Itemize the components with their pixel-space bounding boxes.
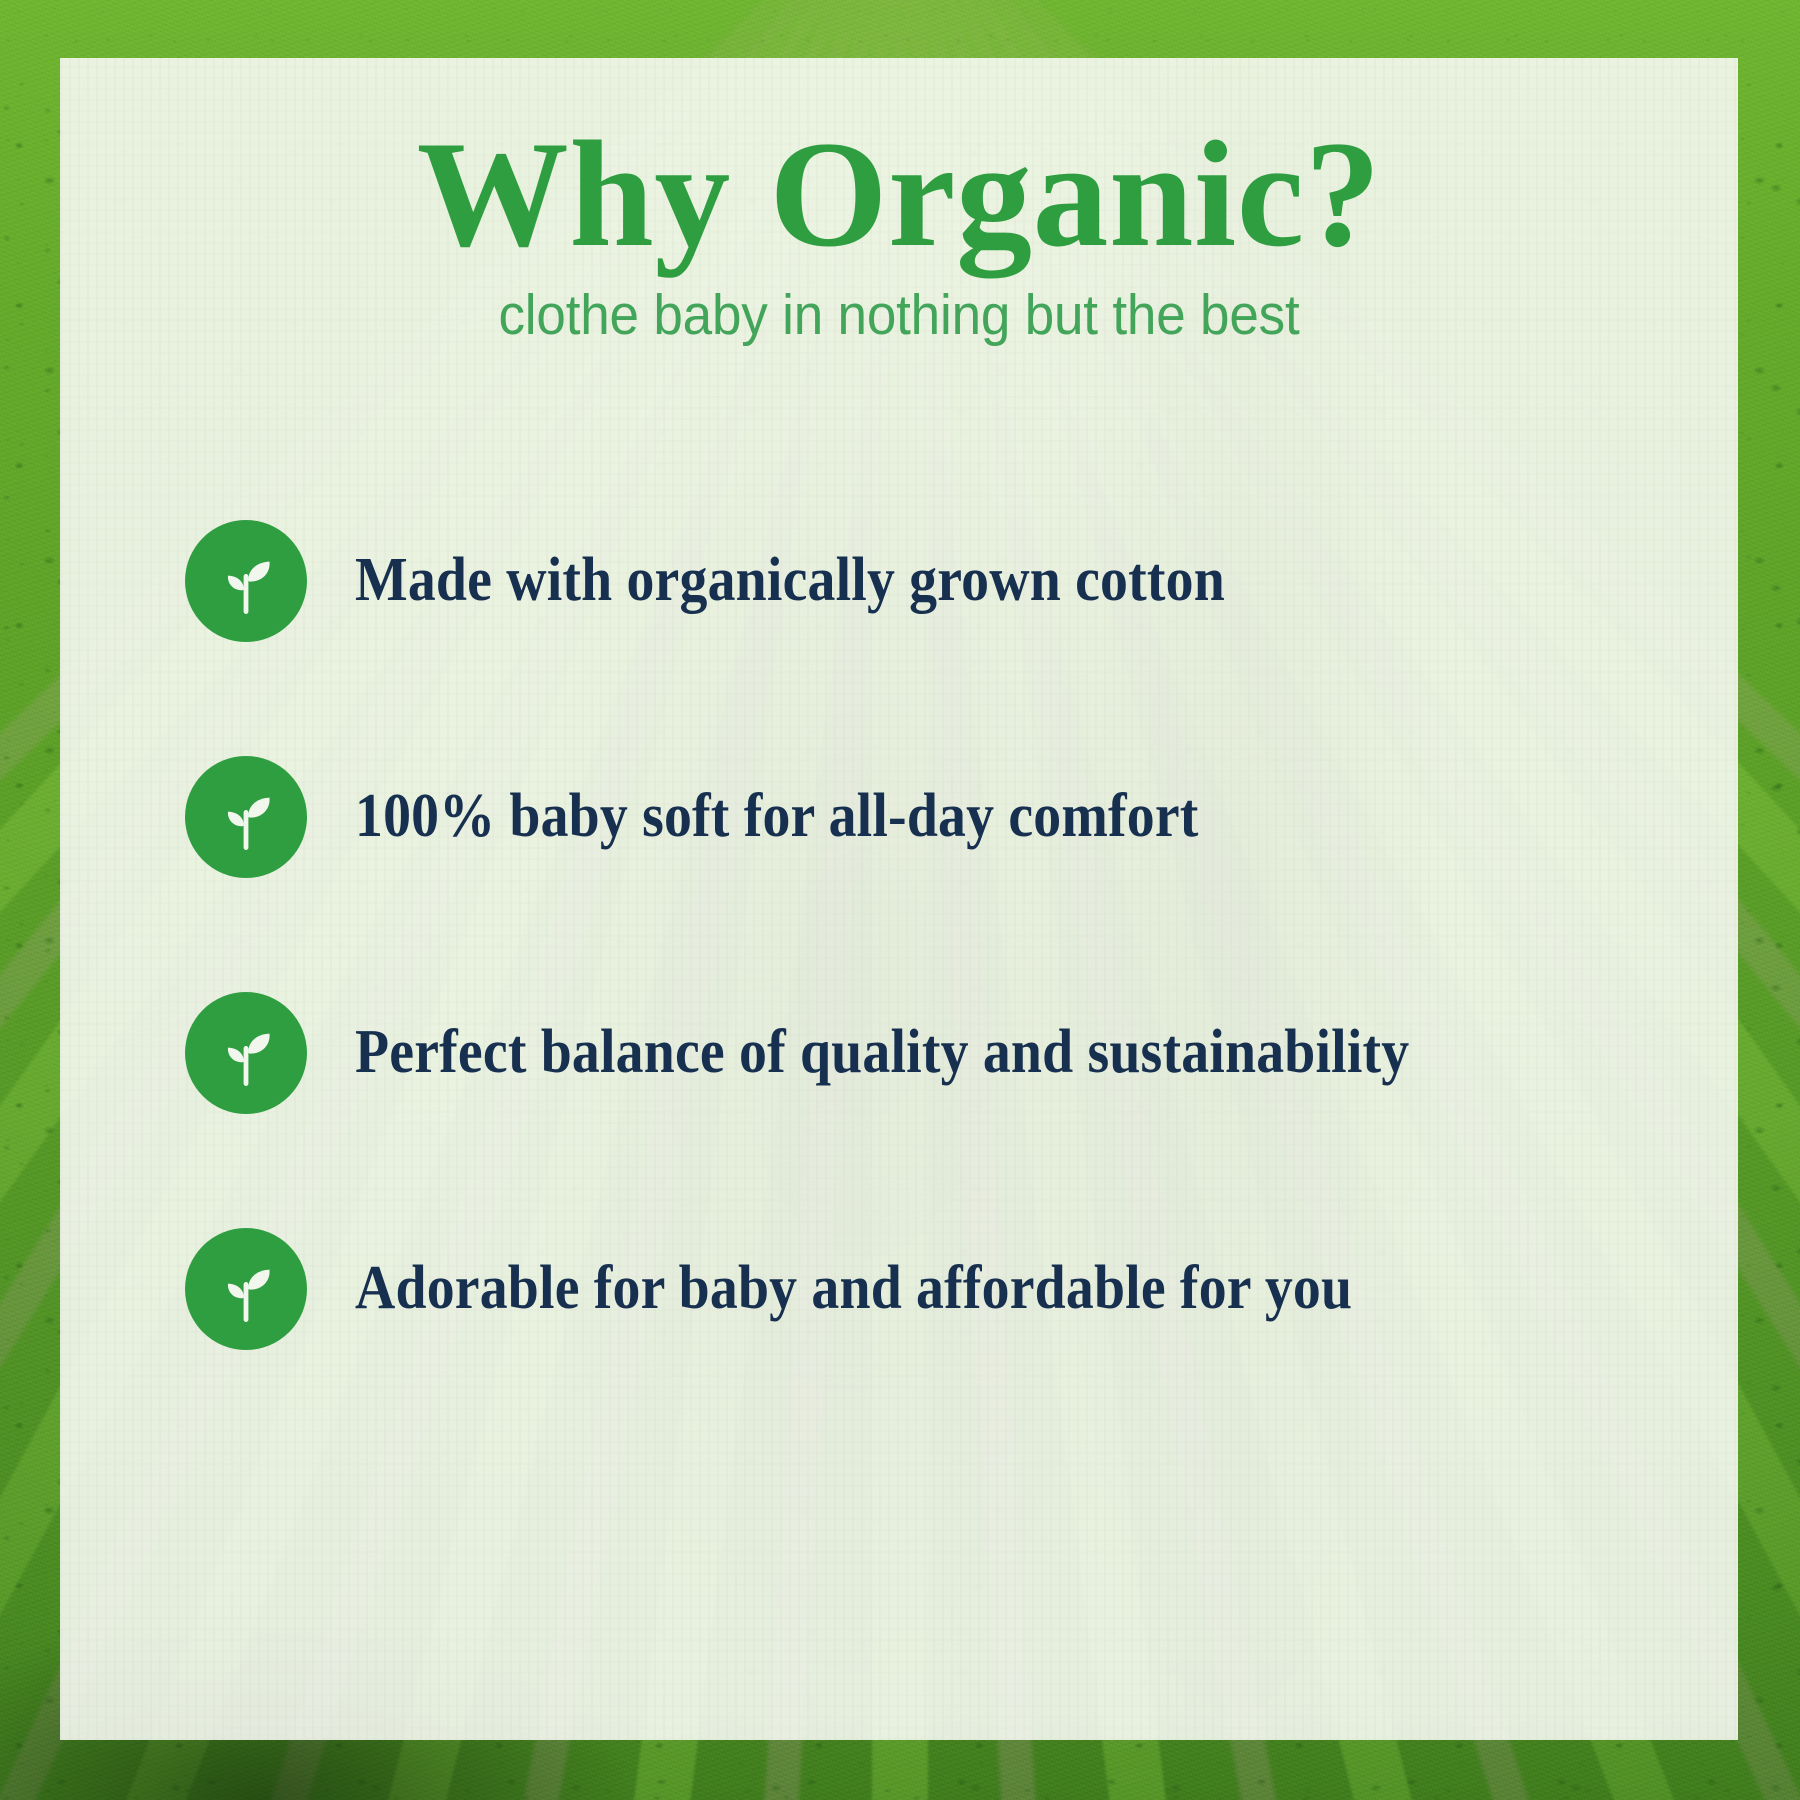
list-item: Perfect balance of quality and sustainab… (185, 935, 1678, 1171)
benefit-label: 100% baby soft for all-day comfort (355, 784, 1199, 849)
list-item: Adorable for baby and affordable for you (185, 1171, 1678, 1407)
benefit-label: Made with organically grown cotton (355, 548, 1225, 613)
page-subtitle: clothe baby in nothing but the best (119, 284, 1680, 347)
sprout-icon (185, 1228, 307, 1350)
header: Why Organic? clothe baby in nothing but … (60, 58, 1738, 347)
sprout-icon (185, 756, 307, 878)
benefit-label: Adorable for baby and affordable for you (355, 1256, 1352, 1321)
benefits-list: Made with organically grown cotton 100% … (60, 463, 1738, 1407)
list-item: Made with organically grown cotton (185, 463, 1678, 699)
page-title: Why Organic? (60, 118, 1738, 270)
sprout-icon (185, 992, 307, 1114)
content-card: Why Organic? clothe baby in nothing but … (60, 58, 1738, 1740)
list-item: 100% baby soft for all-day comfort (185, 699, 1678, 935)
benefit-label: Perfect balance of quality and sustainab… (355, 1020, 1409, 1085)
sprout-icon (185, 520, 307, 642)
